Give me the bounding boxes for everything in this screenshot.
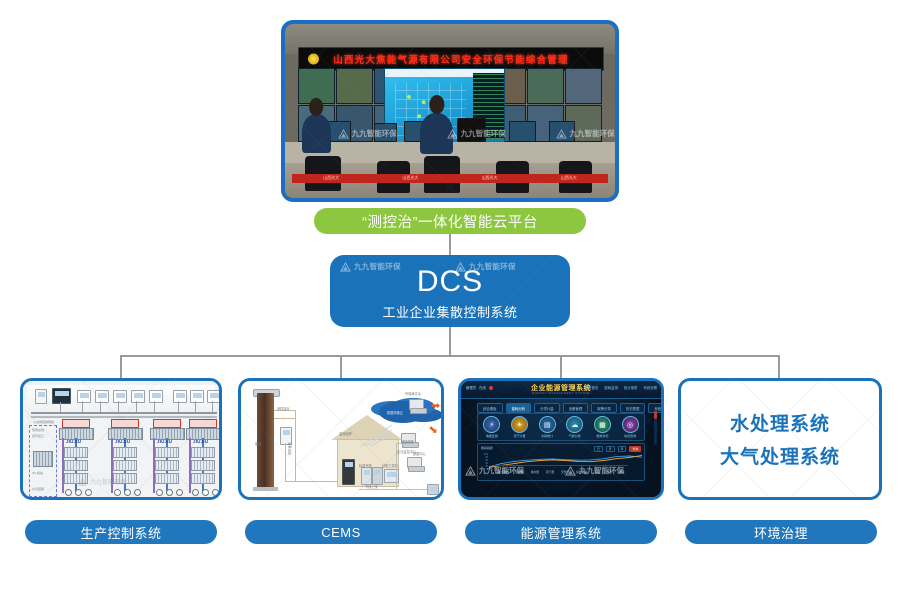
- photo-content: 山西光大焦能气源有限公司安全环保节能综合管理: [285, 24, 615, 198]
- stack-label: 烟囱: [255, 441, 261, 446]
- field-device-icon: [85, 489, 92, 496]
- connector-to-panel-2: [340, 355, 342, 378]
- arrow-right-icon: ➡: [431, 401, 440, 412]
- panel-environment-treatment[interactable]: 水处理系统 大气处理系统: [678, 378, 882, 500]
- user-label: 管理员: [466, 385, 476, 390]
- device-drop-line: [60, 402, 61, 412]
- footer-col: 综合能耗: [576, 470, 587, 474]
- connector-to-panel-3: [560, 355, 562, 378]
- field-device-icon: [176, 489, 183, 496]
- query-icon: ◎: [622, 416, 639, 433]
- dcs-subtitle: 工业企业集散控制系统: [330, 302, 570, 321]
- led-banner-text: 山西光大焦能气源有限公司安全环保节能综合管理: [333, 52, 568, 66]
- label-cems[interactable]: CEMS: [245, 520, 437, 544]
- connector-to-panel-4: [778, 355, 780, 378]
- probe-label: 采样探头: [277, 406, 290, 411]
- water-treatment-label: 水处理系统: [730, 409, 830, 436]
- link-label: 专线上传: [365, 484, 378, 489]
- remote-pc-label: 环保局平台: [405, 391, 421, 396]
- label-text: 生产控制系统: [80, 523, 161, 542]
- footer-col: 备注: [619, 470, 625, 474]
- module-label: 气耗分析: [569, 434, 581, 438]
- field-device-icon: [114, 489, 121, 496]
- module-label: 能效对标: [596, 434, 608, 438]
- cloud-platform-banner[interactable]: “测控治”一体化智能云平台: [314, 208, 586, 234]
- module-label: 电能监测: [486, 434, 498, 438]
- module-steam[interactable]: ☀ 蒸汽计量: [511, 416, 528, 438]
- footer-col: 同比: [594, 470, 600, 474]
- field-device-icon: [124, 489, 131, 496]
- device-drop-line: [82, 401, 83, 412]
- module-label: 水耗统计: [541, 434, 553, 438]
- connector-dcs-stem: [449, 327, 451, 355]
- chart-label: 能耗趋势: [481, 446, 493, 450]
- menu-item[interactable]: 统计报表: [624, 385, 638, 390]
- controller-tag: [111, 419, 139, 428]
- rack-brand: JIUJIU: [193, 439, 208, 444]
- desk-monitor: [457, 118, 487, 142]
- controller-tag: [153, 419, 181, 428]
- link-label: 网络传输: [401, 439, 414, 444]
- io-module: [155, 460, 179, 471]
- operator-person: [420, 113, 453, 155]
- desk-label: 山西光大: [402, 175, 418, 181]
- status-dot-icon: [489, 386, 493, 390]
- heated-line: [295, 410, 296, 482]
- footer-col: 统计周期: [497, 470, 508, 474]
- controller-tag: [189, 419, 217, 428]
- chart-y-axis: 100806040200: [480, 453, 488, 470]
- chart-range-year[interactable]: 年: [618, 446, 627, 452]
- dashboard-scrollbar[interactable]: [654, 411, 657, 445]
- air-treatment-label: 大气处理系统: [720, 442, 840, 469]
- cloud-signal-icon: [359, 421, 395, 447]
- operator-station-icon: [95, 390, 109, 403]
- field-device-icon: [192, 489, 199, 496]
- label-text: 环境治理: [754, 523, 808, 542]
- network-link: [359, 489, 431, 490]
- probe-wire: [274, 418, 296, 419]
- desk-monitor: [509, 121, 535, 142]
- operator-station-icon: [149, 390, 163, 403]
- io-module: [113, 460, 137, 471]
- menu-item[interactable]: 系统设置: [643, 385, 657, 390]
- benchmark-icon: ▦: [594, 416, 611, 433]
- engineer-station-icon: [52, 388, 71, 404]
- dashboard-top-menu[interactable]: 系统首页 能耗监测 统计报表 系统设置: [585, 385, 657, 390]
- cems-diagram: 采样探头 伴热管线 烟囱 监测站房 标准气瓶 站房工控机 数据传输云 ➡ ➡: [241, 381, 441, 497]
- device-drop-line: [118, 401, 119, 412]
- io-module: [191, 447, 215, 458]
- tab-overview[interactable]: 综合看板: [477, 403, 503, 413]
- operator-station-icon: [131, 390, 145, 403]
- desk-monitor: [374, 123, 397, 142]
- gas-icon: ☁: [566, 416, 583, 433]
- stack-base: [253, 487, 278, 491]
- tab-alarm-records[interactable]: 报警记录: [591, 403, 617, 413]
- gas-cylinder-icon: [361, 467, 372, 485]
- dashboard-icon-row[interactable]: ⚡ 电能监测 ☀ 蒸汽计量 ▤ 水耗统计 ☁ 气耗分析 ▦ 能效对标: [477, 413, 645, 441]
- tab-sub-metering[interactable]: 分项计量: [534, 403, 560, 413]
- remote-pc-icon: [409, 399, 426, 412]
- label-text: 能源管理系统: [520, 523, 601, 542]
- module-label: 蒸汽计量: [513, 434, 525, 438]
- connector-horizontal-bus: [121, 355, 779, 357]
- operator-person: [302, 114, 332, 152]
- footer-col: 蒸汽量: [546, 470, 554, 474]
- field-device-icon: [156, 489, 163, 496]
- device-drop-line: [136, 401, 137, 412]
- field-device-icon: [65, 489, 72, 496]
- field-device-icon: [202, 489, 209, 496]
- rack-brand: JIUJIU: [157, 439, 172, 444]
- module-query[interactable]: ◎ 综合查询: [622, 416, 639, 438]
- steam-icon: ☀: [511, 416, 528, 433]
- connector-to-panel-1: [120, 355, 122, 378]
- zone-label: 现场总线: [32, 428, 44, 432]
- io-module: [155, 447, 179, 458]
- shelter-label: 监测站房: [339, 431, 352, 436]
- field-device-icon: [134, 489, 141, 496]
- energy-dashboard: 管理员 在线 企业能源管理系统 ENERGY MANAGEMENT SYSTEM…: [461, 381, 661, 497]
- module-gas[interactable]: ☁ 气耗分析: [566, 416, 583, 438]
- environment-text-block: 水处理系统 大气处理系统: [681, 381, 879, 497]
- tab-device-management[interactable]: 设备管理: [563, 403, 589, 413]
- desk-label: 山西光大: [482, 175, 498, 181]
- chart-range-month[interactable]: 月: [606, 446, 615, 452]
- zone-label: I/O 模块: [32, 471, 43, 475]
- control-network-bus-b: [31, 416, 217, 418]
- zone-label: 通讯接口: [32, 434, 44, 438]
- module-water[interactable]: ▤ 水耗统计: [539, 416, 556, 438]
- module-label: 综合查询: [624, 434, 636, 438]
- device-drop-line: [195, 401, 196, 412]
- company-logo-icon: [308, 53, 319, 64]
- online-label: 在线: [479, 385, 486, 390]
- cloud-platform-label: “测控治”一体化智能云平台: [362, 211, 538, 232]
- network-link: [396, 443, 397, 489]
- dcs-network-diagram: 以太网控制网络 JIUJIU JIUJIU: [23, 381, 219, 497]
- panel-production-control[interactable]: 以太网控制网络 JIUJIU JIUJIU: [20, 378, 222, 500]
- dashboard-tabs[interactable]: 综合看板 能耗分析 分项计量 设备管理 报警记录 历史数据 系统配置: [477, 403, 664, 413]
- remote-pc-icon: [407, 457, 424, 470]
- footer-col: 用电量: [515, 470, 523, 474]
- remote-pc-label: 数据中心: [413, 451, 426, 456]
- module-benchmark[interactable]: ▦ 能效对标: [594, 416, 611, 438]
- rack-brand: JIUJIU: [115, 439, 130, 444]
- operator-station-icon: [173, 390, 187, 403]
- dcs-box[interactable]: 九九智能环保 九九智能环保 DCS 工业企业集散控制系统: [330, 255, 570, 327]
- label-energy-management[interactable]: 能源管理系统: [465, 520, 657, 544]
- io-module: [113, 473, 137, 484]
- tab-energy-analysis[interactable]: 能耗分析: [506, 403, 532, 413]
- chart-range-day[interactable]: 日: [594, 446, 603, 452]
- chart-controls[interactable]: 日 月 年 查询: [594, 446, 641, 452]
- io-module: [191, 473, 215, 484]
- analyzer-cabinet-icon: [342, 459, 355, 485]
- io-module: [64, 447, 88, 458]
- desk-red-strip: 山西光大 山西光大 山西光大 山西光大: [292, 174, 609, 184]
- cloud-label: 数据传输云: [387, 410, 403, 415]
- io-module: [113, 447, 137, 458]
- controller-tag: [62, 419, 90, 428]
- water-icon: ▤: [539, 416, 556, 433]
- menu-item[interactable]: 能耗监测: [604, 385, 618, 390]
- energy-trend-chart: 能耗趋势 日 月 年 查询 100806040200 统计周期 用电量 用水量 …: [477, 443, 645, 481]
- gas-cylinder-icon: [372, 467, 383, 485]
- field-device-icon: [212, 489, 219, 496]
- footer-col: 环比: [607, 470, 613, 474]
- dcs-title: DCS: [330, 267, 570, 297]
- device-drop-line: [100, 401, 101, 412]
- desk-label: 山西光大: [323, 175, 339, 181]
- label-text: CEMS: [321, 525, 361, 540]
- io-module: [64, 473, 88, 484]
- io-module: [64, 460, 88, 471]
- printer-icon: [35, 389, 47, 404]
- line-label: 伴热管线: [287, 442, 292, 455]
- arrow-down-icon: ➡: [426, 423, 440, 437]
- device-drop-line: [178, 401, 179, 412]
- operator-station-icon: [190, 390, 204, 403]
- control-room-photo: 山西光大焦能气源有限公司安全环保节能综合管理: [281, 20, 619, 202]
- bus-label: 以太网控制网络: [33, 420, 54, 424]
- chart-footer-columns: 统计周期 用电量 用水量 蒸汽量 天然气 综合能耗 同比 环比 备注: [494, 465, 628, 477]
- electricity-icon: ⚡: [483, 416, 500, 433]
- network-switch-icon: [427, 484, 439, 495]
- dashboard-subtitle: ENERGY MANAGEMENT SYSTEM: [532, 391, 590, 395]
- heated-line: [285, 443, 286, 482]
- rack-brand: JIUJIU: [66, 439, 81, 444]
- footer-col: 用水量: [531, 470, 539, 474]
- io-module: [155, 473, 179, 484]
- menu-item[interactable]: 系统首页: [585, 385, 599, 390]
- control-network-bus: [31, 412, 217, 414]
- infographic-root: 山西光大焦能气源有限公司安全环保节能综合管理: [0, 0, 900, 593]
- connector-pill-to-dcs: [449, 234, 451, 256]
- desk-label: 山西光大: [561, 175, 577, 181]
- cylinder-label: 标准气瓶: [359, 463, 372, 468]
- label-production-control[interactable]: 生产控制系统: [25, 520, 217, 544]
- chart-query-button[interactable]: 查询: [629, 446, 641, 452]
- desk-monitor: [549, 121, 575, 142]
- panel-energy-management[interactable]: 管理员 在线 企业能源管理系统 ENERGY MANAGEMENT SYSTEM…: [458, 378, 664, 500]
- mountain-logo-icon: [465, 466, 476, 476]
- field-device-icon: [166, 489, 173, 496]
- io-module: [191, 460, 215, 471]
- tab-history-data[interactable]: 历史数据: [620, 403, 646, 413]
- field-device-icon: [75, 489, 82, 496]
- label-environment-treatment[interactable]: 环境治理: [685, 520, 877, 544]
- operator-station-icon: [77, 390, 91, 403]
- module-electricity[interactable]: ⚡ 电能监测: [483, 416, 500, 438]
- operator-station-icon: [207, 390, 221, 403]
- zone-label: 仪表回路: [32, 487, 44, 491]
- footer-col: 天然气: [561, 470, 569, 474]
- dashboard-user-status: 管理员 在线: [466, 385, 493, 390]
- operator-station-icon: [113, 390, 127, 403]
- device-drop-line: [154, 401, 155, 412]
- device-drop-line: [212, 401, 213, 412]
- remote-io-cabinet: [33, 451, 53, 467]
- panel-cems[interactable]: 采样探头 伴热管线 烟囱 监测站房 标准气瓶 站房工控机 数据传输云 ➡ ➡: [238, 378, 444, 500]
